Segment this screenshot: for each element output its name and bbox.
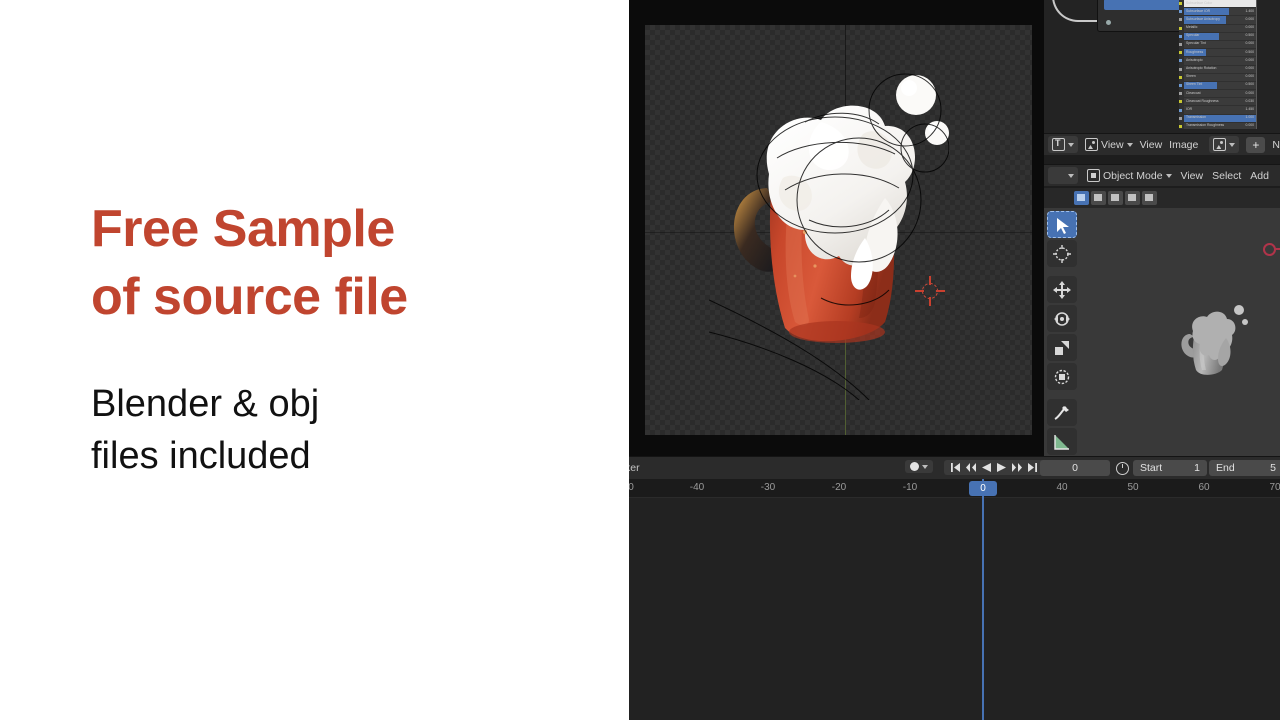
current-frame-field[interactable]: 0 bbox=[1040, 460, 1110, 476]
cursor-tool[interactable] bbox=[1047, 240, 1077, 267]
select-edge-mode[interactable] bbox=[1125, 191, 1140, 205]
promo-title-line1: Free Sample bbox=[91, 200, 395, 258]
property-socket[interactable] bbox=[1179, 10, 1182, 13]
blender-app: Subsurface ColorSubsurface IOR1.400Subsu… bbox=[629, 0, 1280, 720]
display-mode-button[interactable]: View bbox=[1085, 136, 1133, 153]
property-socket[interactable] bbox=[1179, 117, 1182, 120]
image-display-icon bbox=[1085, 138, 1098, 151]
property-value: 0.000 bbox=[1246, 74, 1255, 78]
property-value: 1.450 bbox=[1246, 107, 1255, 111]
property-label: Sheen Tint bbox=[1186, 82, 1202, 86]
viewport-object-mug[interactable] bbox=[1176, 300, 1256, 380]
chevron-down-icon bbox=[1068, 143, 1074, 147]
property-socket[interactable] bbox=[1179, 84, 1182, 87]
playback-controls[interactable] bbox=[944, 460, 1044, 475]
property-socket[interactable] bbox=[1179, 43, 1182, 46]
tweak-select-box-tool[interactable] bbox=[1047, 211, 1077, 238]
frame-range-group[interactable]: Start 1 End 5 H bbox=[1116, 460, 1280, 476]
select-mode-glyph bbox=[1077, 194, 1085, 201]
property-value: 0.000 bbox=[1246, 123, 1255, 127]
ruler-tick: -30 bbox=[761, 482, 775, 493]
transform-tool[interactable] bbox=[1047, 363, 1077, 390]
property-socket[interactable] bbox=[1179, 68, 1182, 71]
ruler-tick: 40 bbox=[1056, 482, 1067, 493]
property-value: 0.000 bbox=[1246, 66, 1255, 70]
property-row[interactable]: Clearcoat0.000 bbox=[1184, 90, 1256, 97]
property-label: Specular Tint bbox=[1186, 41, 1206, 45]
select-mode-glyph bbox=[1145, 194, 1153, 201]
measure-tool[interactable] bbox=[1047, 428, 1077, 455]
start-value: 1 bbox=[1194, 462, 1200, 474]
interaction-mode-button[interactable]: Object Mode bbox=[1087, 167, 1172, 184]
chevron-down-icon bbox=[922, 465, 928, 469]
property-socket[interactable] bbox=[1179, 125, 1182, 128]
menu-select[interactable]: Select bbox=[1212, 170, 1241, 182]
chevron-down-icon bbox=[1166, 174, 1172, 178]
property-row[interactable]: Subsurface Color bbox=[1184, 0, 1256, 7]
property-value: 1.000 bbox=[1246, 115, 1255, 119]
property-socket[interactable] bbox=[1179, 35, 1182, 38]
property-label: Transmission bbox=[1186, 115, 1206, 119]
property-label: Subsurface Anisotropy bbox=[1186, 17, 1220, 21]
property-label: Anisotropic bbox=[1186, 58, 1203, 62]
property-label: Sheen bbox=[1186, 74, 1196, 78]
end-frame-field[interactable]: End 5 bbox=[1209, 460, 1280, 476]
object-mode-icon bbox=[1087, 169, 1100, 182]
property-socket[interactable] bbox=[1179, 92, 1182, 95]
viewport-editor-type-button[interactable] bbox=[1048, 167, 1078, 184]
menu-view[interactable]: View bbox=[1140, 139, 1163, 151]
property-socket[interactable] bbox=[1179, 2, 1182, 5]
property-socket[interactable] bbox=[1179, 109, 1182, 112]
property-label: Transmission Roughness bbox=[1186, 123, 1224, 127]
viewport-header[interactable]: Object Mode View Select Add bbox=[1044, 164, 1280, 186]
chevron-down-icon bbox=[1068, 174, 1074, 178]
play-reverse-icon bbox=[981, 462, 992, 473]
viewport-toolbar[interactable] bbox=[1045, 209, 1082, 456]
timeline-ruler[interactable]: 0-40-30-20-1040506070 bbox=[629, 479, 1280, 497]
property-value: 0.030 bbox=[1246, 99, 1255, 103]
property-value: 0.500 bbox=[1246, 33, 1255, 37]
property-row[interactable]: Sheen Tint0.500 bbox=[1184, 82, 1256, 89]
chevron-down-icon bbox=[1127, 143, 1133, 147]
promo-subtitle-line2: files included bbox=[91, 430, 611, 482]
property-label: Clearcoat Roughness bbox=[1186, 99, 1219, 103]
property-value: 0.000 bbox=[1246, 25, 1255, 29]
3d-cursor-icon bbox=[915, 276, 945, 306]
select-face-mode[interactable] bbox=[1091, 191, 1106, 205]
property-socket[interactable] bbox=[1179, 27, 1182, 30]
jump-to-prev-keyframe-icon bbox=[965, 462, 977, 473]
ruler-tick: -40 bbox=[690, 482, 704, 493]
property-value: 0.000 bbox=[1246, 17, 1255, 21]
property-row[interactable]: IOR1.450 bbox=[1184, 106, 1256, 113]
select-mode-toggles[interactable] bbox=[1044, 188, 1280, 208]
play-icon bbox=[996, 462, 1007, 473]
property-row[interactable]: Subsurface IOR1.400 bbox=[1184, 8, 1256, 15]
auto-keying-button[interactable] bbox=[905, 460, 933, 473]
timeline-body[interactable] bbox=[629, 497, 1280, 720]
promo-subtitle: Blender & obj files included bbox=[91, 378, 611, 482]
record-keyframe-icon bbox=[910, 462, 919, 471]
scale-tool[interactable] bbox=[1047, 334, 1077, 361]
image-editor-canvas[interactable] bbox=[629, 0, 1044, 456]
menu-add[interactable]: Add bbox=[1250, 170, 1269, 182]
ruler-tick: 70 bbox=[1269, 482, 1280, 493]
toolbar-separator bbox=[1047, 269, 1080, 274]
ruler-tick: -20 bbox=[832, 482, 846, 493]
material-properties-list[interactable]: Subsurface ColorSubsurface IOR1.400Subsu… bbox=[1179, 0, 1257, 129]
stopwatch-icon[interactable] bbox=[1116, 462, 1129, 475]
new-image-label[interactable]: Ne bbox=[1272, 139, 1280, 151]
select-box-mode[interactable] bbox=[1074, 191, 1089, 205]
property-label: Roughness bbox=[1186, 50, 1203, 54]
property-row[interactable]: Clearcoat Roughness0.030 bbox=[1184, 98, 1256, 105]
property-socket[interactable] bbox=[1179, 100, 1182, 103]
jump-to-next-keyframe-icon bbox=[1011, 462, 1023, 473]
property-value: 0.000 bbox=[1246, 91, 1255, 95]
image-datablock-button[interactable] bbox=[1209, 136, 1239, 153]
editor-type-button[interactable] bbox=[1048, 136, 1078, 153]
new-image-button[interactable]: + bbox=[1246, 137, 1265, 153]
viewport-gizmo-icon[interactable] bbox=[1260, 240, 1280, 262]
editor-type-icon bbox=[1052, 138, 1065, 151]
beer-mug-render bbox=[709, 70, 949, 400]
select-mode-glyph bbox=[1094, 194, 1102, 201]
annotate-tool[interactable] bbox=[1047, 399, 1077, 426]
property-row[interactable]: Transmission Roughness0.000 bbox=[1184, 123, 1256, 129]
end-value: 5 bbox=[1270, 462, 1276, 474]
property-row[interactable]: Metallic0.000 bbox=[1184, 25, 1256, 32]
property-row[interactable]: Sheen0.000 bbox=[1184, 74, 1256, 81]
property-label: Metallic bbox=[1186, 25, 1198, 29]
property-label: Specular bbox=[1186, 33, 1199, 37]
promo-title: Free Sample of source file bbox=[91, 195, 611, 331]
property-sockets-rail bbox=[1179, 0, 1183, 129]
property-value: 1.400 bbox=[1246, 9, 1255, 13]
ruler-tick: 60 bbox=[1198, 482, 1209, 493]
menu-image[interactable]: Image bbox=[1169, 139, 1198, 151]
property-label: Subsurface Color bbox=[1186, 1, 1212, 5]
promo-subtitle-line1: Blender & obj bbox=[91, 383, 319, 425]
screenshot-root: Free Sample of source file Blender & obj… bbox=[0, 0, 1280, 720]
end-label: End bbox=[1216, 462, 1235, 474]
start-label: Start bbox=[1140, 462, 1162, 474]
shader-node-editor[interactable]: Subsurface ColorSubsurface IOR1.400Subsu… bbox=[1044, 0, 1280, 133]
property-socket[interactable] bbox=[1179, 76, 1182, 79]
editor-divider bbox=[1044, 155, 1280, 164]
property-row[interactable]: Anisotropic Rotation0.000 bbox=[1184, 66, 1256, 73]
jump-to-start-icon bbox=[950, 462, 961, 473]
select-object-mode[interactable] bbox=[1142, 191, 1157, 205]
property-row[interactable]: Anisotropic0.000 bbox=[1184, 57, 1256, 64]
playhead-line[interactable] bbox=[982, 479, 984, 720]
property-label: Clearcoat bbox=[1186, 91, 1201, 95]
editor-type-3d-icon bbox=[1052, 169, 1065, 182]
ruler-tick: 0 bbox=[629, 482, 634, 493]
interaction-mode-label: Object Mode bbox=[1103, 170, 1163, 182]
property-row[interactable]: Specular0.500 bbox=[1184, 33, 1256, 40]
display-mode-label: View bbox=[1101, 139, 1124, 151]
menu-view[interactable]: View bbox=[1181, 170, 1204, 182]
property-row[interactable]: Subsurface Anisotropy0.000 bbox=[1184, 16, 1256, 23]
property-socket[interactable] bbox=[1179, 18, 1182, 21]
property-socket[interactable] bbox=[1179, 59, 1182, 62]
image-editor-header[interactable]: View View Image + Ne bbox=[1044, 133, 1280, 155]
ruler-tick: -10 bbox=[903, 482, 917, 493]
property-value: 0.500 bbox=[1246, 50, 1255, 54]
chevron-down-icon bbox=[1229, 143, 1235, 147]
select-mode-glyph bbox=[1128, 194, 1136, 201]
property-row[interactable]: Transmission1.000 bbox=[1184, 115, 1256, 122]
select-mode-glyph bbox=[1111, 194, 1119, 201]
viewport-3d[interactable] bbox=[1044, 208, 1280, 456]
property-value: 0.000 bbox=[1246, 41, 1255, 45]
property-label: Subsurface IOR bbox=[1186, 9, 1210, 13]
promo-panel: Free Sample of source file Blender & obj… bbox=[0, 0, 629, 720]
property-row[interactable]: Specular Tint0.000 bbox=[1184, 41, 1256, 48]
jump-to-end-icon bbox=[1027, 462, 1038, 473]
toolbar-separator bbox=[1047, 392, 1080, 397]
select-vertex-mode[interactable] bbox=[1108, 191, 1123, 205]
rotate-tool[interactable] bbox=[1047, 305, 1077, 332]
property-socket[interactable] bbox=[1179, 51, 1182, 54]
property-label: IOR bbox=[1186, 107, 1192, 111]
image-datablock-icon bbox=[1213, 138, 1226, 151]
start-frame-field[interactable]: Start 1 bbox=[1133, 460, 1207, 476]
node-socket[interactable] bbox=[1106, 20, 1111, 25]
timeline-editor-label: ker bbox=[629, 462, 640, 474]
property-label: Anisotropic Rotation bbox=[1186, 66, 1216, 70]
property-row[interactable]: Roughness0.500 bbox=[1184, 49, 1256, 56]
move-tool[interactable] bbox=[1047, 276, 1077, 303]
promo-title-line2: of source file bbox=[91, 263, 611, 331]
property-value: 0.500 bbox=[1246, 82, 1255, 86]
ruler-tick: 50 bbox=[1127, 482, 1138, 493]
playhead-frame-badge[interactable]: 0 bbox=[969, 481, 997, 496]
timeline-header[interactable]: ker bbox=[629, 456, 1280, 479]
property-value: 0.000 bbox=[1246, 58, 1255, 62]
